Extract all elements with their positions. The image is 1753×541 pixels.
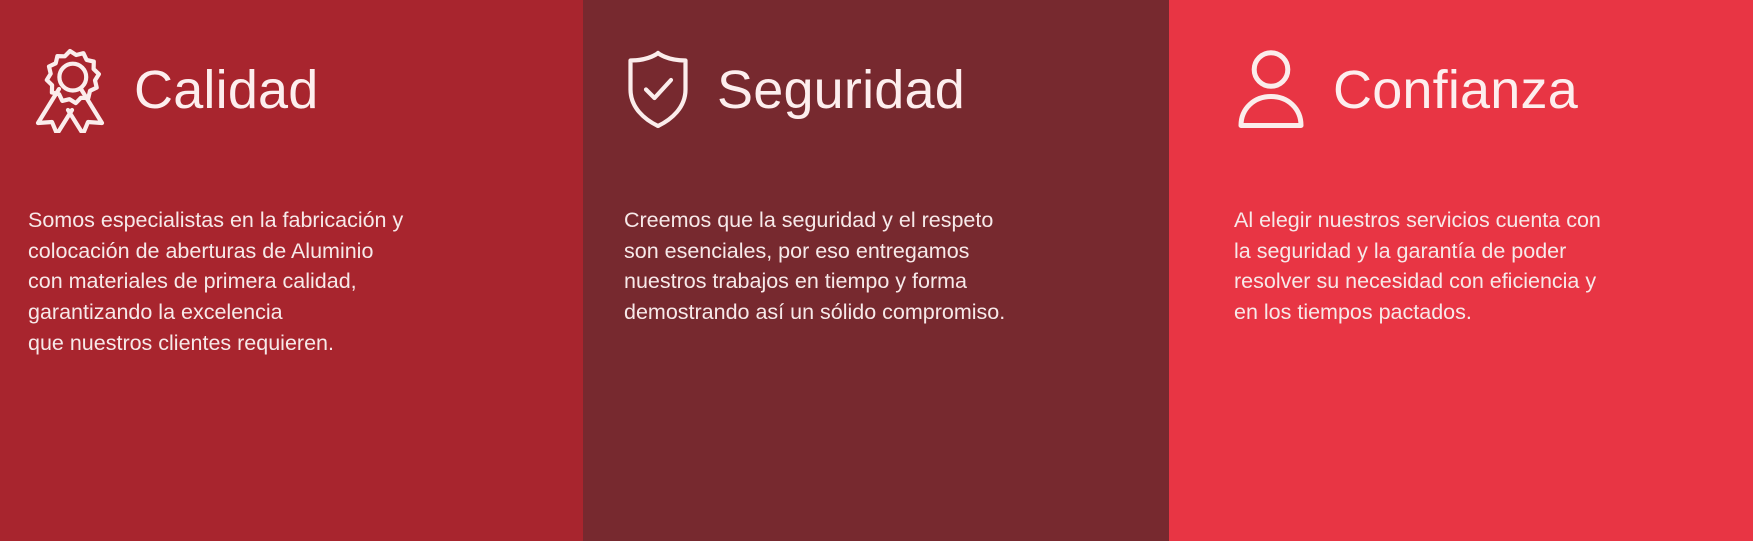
feature-body-confianza: Al elegir nuestros servicios cuenta con …	[1234, 205, 1753, 328]
feature-title-confianza: Confianza	[1333, 63, 1578, 117]
feature-header-calidad: Calidad	[24, 38, 583, 142]
feature-header-seguridad: Seguridad	[621, 38, 1169, 142]
feature-panel-calidad: Calidad Somos especialistas en la fabric…	[0, 0, 583, 541]
feature-panel-confianza: Confianza Al elegir nuestros servicios c…	[1169, 0, 1753, 541]
feature-panel-seguridad: Seguridad Creemos que la seguridad y el …	[583, 0, 1169, 541]
shield-check-icon	[625, 49, 691, 131]
award-ribbon-icon	[32, 47, 108, 133]
feature-body-seguridad: Creemos que la seguridad y el respeto so…	[624, 205, 1169, 328]
person-icon	[1235, 46, 1307, 134]
feature-header-confianza: Confianza	[1229, 38, 1753, 142]
feature-title-seguridad: Seguridad	[717, 63, 965, 117]
features-panel-row: Calidad Somos especialistas en la fabric…	[0, 0, 1753, 541]
feature-title-calidad: Calidad	[134, 63, 319, 117]
feature-body-calidad: Somos especialistas en la fabricación y …	[28, 205, 583, 359]
